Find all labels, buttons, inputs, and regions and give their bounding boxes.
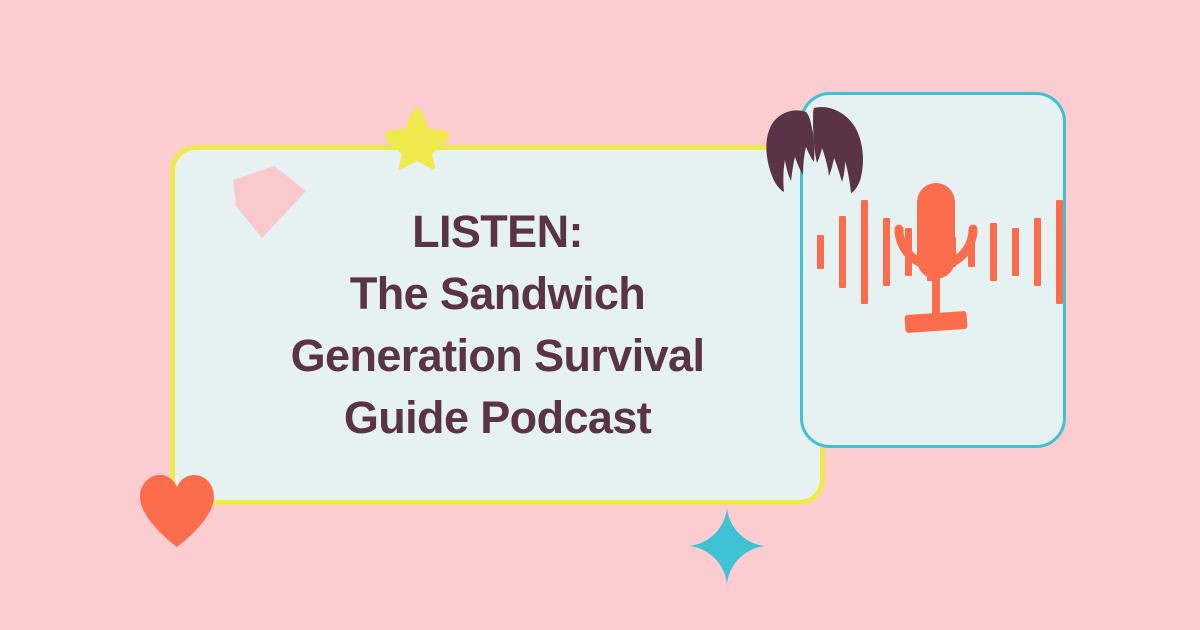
gem-icon [228,166,308,238]
headline-line-1: LISTEN: [412,201,583,263]
star-icon [384,106,450,170]
headline-line-2: The Sandwich [350,263,645,325]
wings-icon [762,104,872,194]
sparkle-icon [689,508,765,584]
poster-canvas: LISTEN: The Sandwich Generation Survival… [0,0,1200,630]
headline-line-3: Generation Survival [291,325,705,387]
headline-line-4: Guide Podcast [344,387,651,449]
heart-icon [136,473,218,549]
audio-waveform-icon [817,200,1069,304]
microphone-icon [899,183,973,333]
